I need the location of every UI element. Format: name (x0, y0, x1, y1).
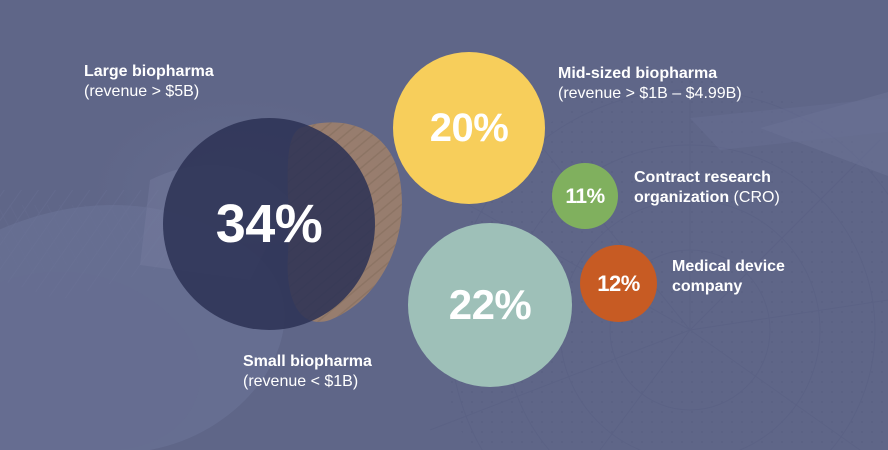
label-medical-device-company-subtitle: company (672, 277, 785, 297)
label-medical-device-company: Medical device company (672, 257, 785, 298)
bubble-contract-research-organization[interactable]: 11% (552, 163, 618, 229)
label-contract-research-organization: Contract research organization (CRO) (634, 168, 780, 209)
label-small-biopharma-title: Small biopharma (243, 352, 372, 372)
label-mid-sized-biopharma-subtitle: (revenue > $1B – $4.99B) (558, 84, 742, 104)
bubble-small-biopharma[interactable]: 22% (408, 223, 572, 387)
label-large-biopharma-subtitle: (revenue > $5B) (84, 82, 214, 102)
bubble-mid-sized-biopharma[interactable]: 20% (393, 52, 545, 204)
label-small-biopharma-subtitle: (revenue < $1B) (243, 372, 372, 392)
label-cro-abbreviation: (CRO) (729, 189, 780, 206)
bubble-large-biopharma[interactable]: 34% (163, 118, 375, 330)
bubble-chart-infographic: 34% 20% 22% 11% 12% Large biopharma (rev… (0, 0, 888, 450)
bubble-mid-sized-biopharma-percent: 20% (430, 108, 509, 148)
label-cro-organization-word: organization (634, 189, 729, 206)
label-contract-research-organization-subtitle: organization (CRO) (634, 188, 780, 208)
bubble-large-biopharma-percent: 34% (216, 197, 323, 251)
label-mid-sized-biopharma-title: Mid-sized biopharma (558, 64, 742, 84)
label-small-biopharma: Small biopharma (revenue < $1B) (243, 352, 372, 393)
label-large-biopharma: Large biopharma (revenue > $5B) (84, 62, 214, 103)
label-contract-research-organization-title: Contract research (634, 168, 780, 188)
bubble-small-biopharma-percent: 22% (449, 284, 532, 326)
label-mid-sized-biopharma: Mid-sized biopharma (revenue > $1B – $4.… (558, 64, 742, 105)
bubble-contract-research-organization-percent: 11% (565, 186, 604, 207)
bubble-medical-device-company[interactable]: 12% (580, 245, 657, 322)
label-large-biopharma-title: Large biopharma (84, 62, 214, 82)
bubble-medical-device-company-percent: 12% (597, 273, 640, 295)
label-medical-device-company-title: Medical device (672, 257, 785, 277)
